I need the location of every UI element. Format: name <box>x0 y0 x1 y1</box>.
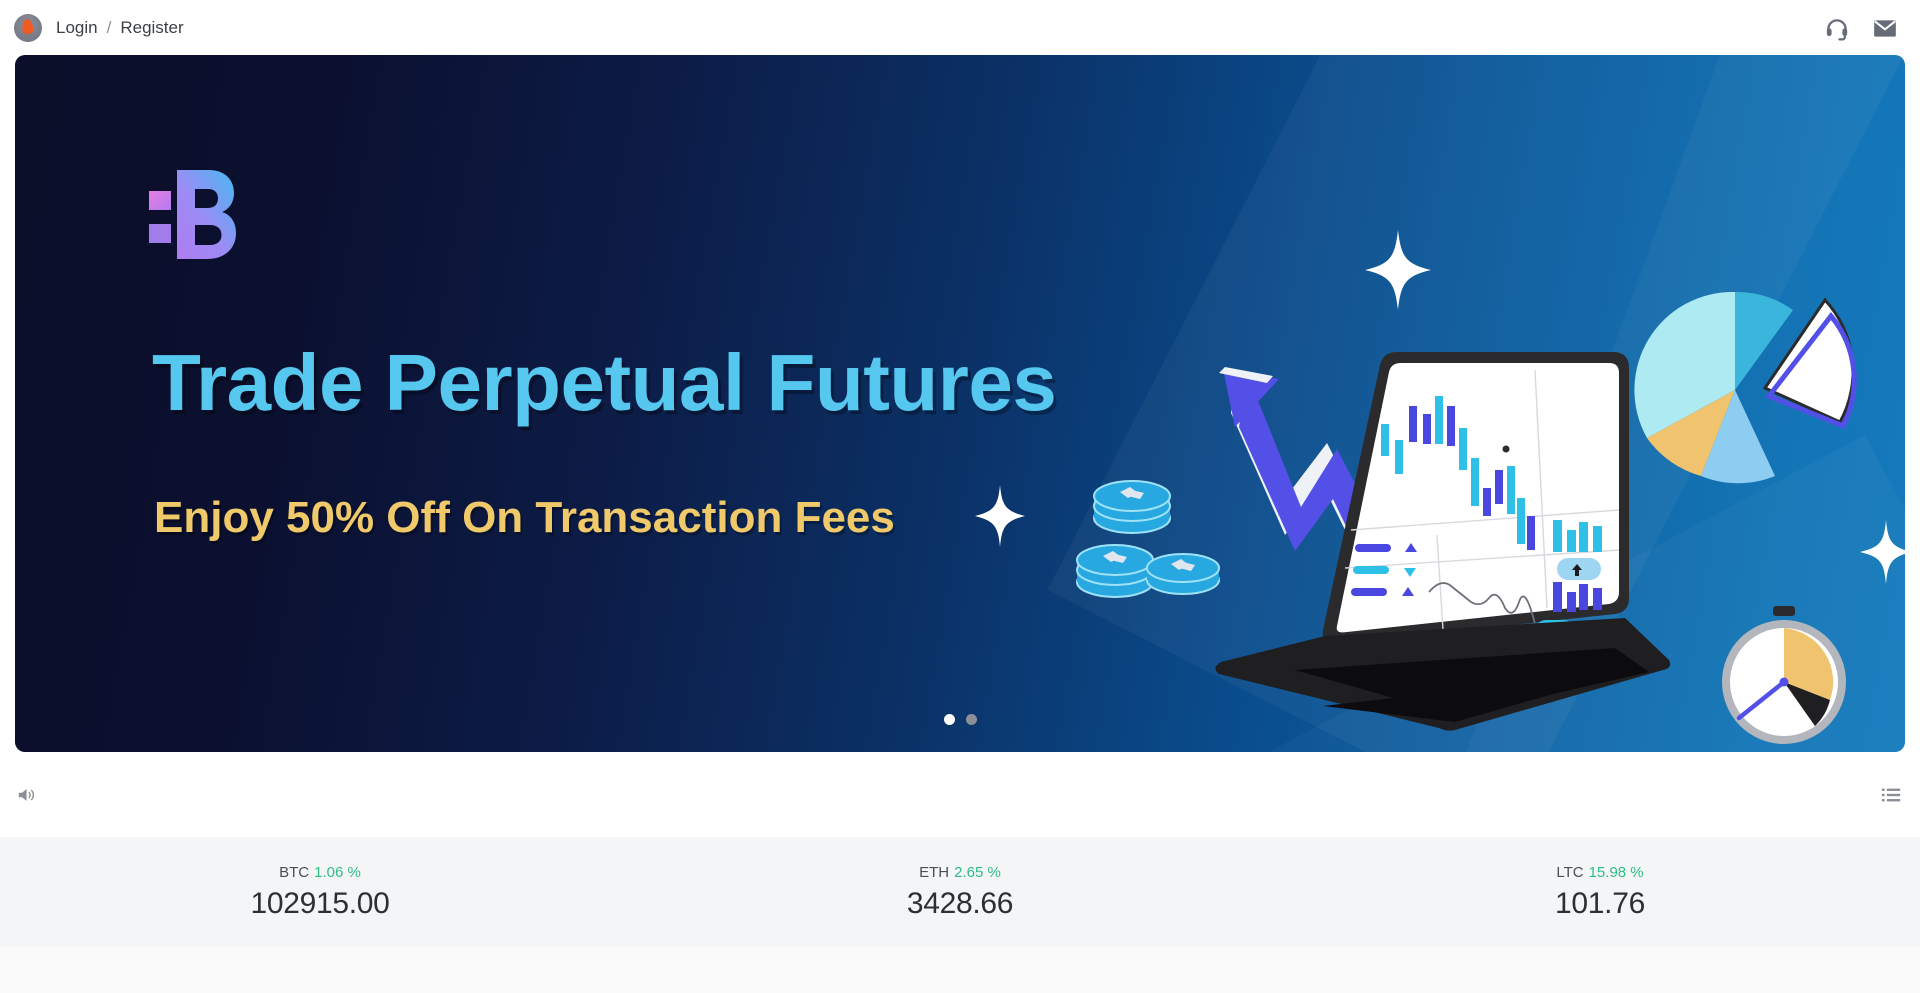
sparkle-icon <box>975 485 1025 547</box>
promo-banner[interactable]: Trade Perpetual Futures Enjoy 50% Off On… <box>15 55 1905 752</box>
ticker-eth[interactable]: ETH2.65 % 3428.66 <box>640 864 1280 921</box>
login-link[interactable]: Login <box>56 18 98 38</box>
announcement-bar <box>0 752 1920 837</box>
ticker-btc[interactable]: BTC1.06 % 102915.00 <box>0 864 640 921</box>
banner-carousel-wrap: Trade Perpetual Futures Enjoy 50% Off On… <box>0 55 1920 752</box>
announcement-list-button[interactable] <box>1880 784 1902 806</box>
top-bar-actions <box>1824 15 1898 41</box>
content-spacer <box>0 947 1920 993</box>
carousel-dots <box>15 714 1905 725</box>
ticker-change: 2.65 % <box>954 864 1001 881</box>
sparkle-icon <box>1860 520 1905 584</box>
ticker-ltc[interactable]: LTC15.98 % 101.76 <box>1280 864 1920 921</box>
announcement-left[interactable] <box>16 784 48 806</box>
ticker-header: ETH2.65 % <box>640 864 1280 881</box>
headset-icon[interactable] <box>1824 15 1850 41</box>
ticker-symbol: ETH <box>919 864 949 881</box>
ticker-header: BTC1.06 % <box>0 864 640 881</box>
carousel-dot-2[interactable] <box>966 714 977 725</box>
banner-subtitle: Enjoy 50% Off On Transaction Fees <box>154 493 895 543</box>
ticker-change: 1.06 % <box>314 864 361 881</box>
speaker-announcement-icon[interactable] <box>16 784 38 806</box>
stopwatch-icon <box>1715 600 1860 752</box>
register-link[interactable]: Register <box>120 18 183 38</box>
ticker-price: 102915.00 <box>0 887 640 921</box>
top-bar: Login / Register <box>0 0 1920 55</box>
ticker-change: 15.98 % <box>1589 864 1644 881</box>
ticker-price: 101.76 <box>1280 887 1920 921</box>
ticker-symbol: BTC <box>279 864 309 881</box>
mail-icon[interactable] <box>1872 15 1898 41</box>
market-ticker-strip: BTC1.06 % 102915.00 ETH2.65 % 3428.66 LT… <box>0 837 1920 947</box>
banner-title: Trade Perpetual Futures <box>152 337 1056 429</box>
avatar[interactable] <box>14 14 42 42</box>
carousel-dot-1[interactable] <box>944 714 955 725</box>
auth-links: Login / Register <box>56 18 184 38</box>
ticker-price: 3428.66 <box>640 887 1280 921</box>
ticker-header: LTC15.98 % <box>1280 864 1920 881</box>
list-menu-icon[interactable] <box>1880 784 1902 806</box>
pie-chart-icon <box>1625 280 1875 520</box>
ticker-symbol: LTC <box>1556 864 1583 881</box>
brand-b-logo <box>148 165 240 273</box>
sparkle-icon <box>1365 230 1431 310</box>
auth-separator: / <box>107 18 112 38</box>
